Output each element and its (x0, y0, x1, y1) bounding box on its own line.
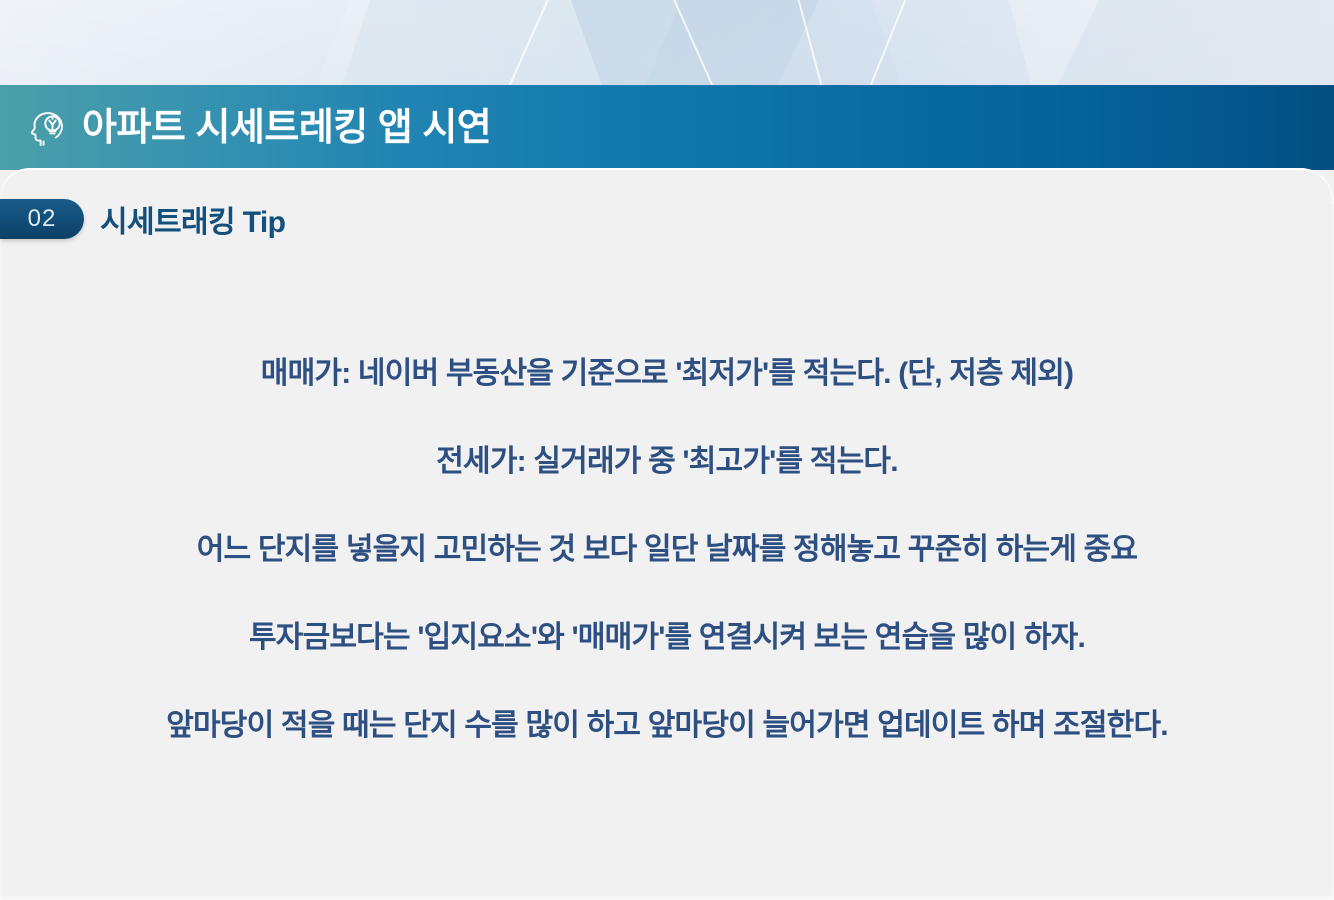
section-number-badge: 02 (0, 199, 84, 239)
body-line-5: 앞마당이 적을 때는 단지 수를 많이 하고 앞마당이 늘어가면 업데이트 하며… (0, 682, 1334, 770)
decorative-top-band (0, 0, 1334, 85)
head-lightbulb-idea-icon (26, 106, 70, 150)
section-title: 시세트래킹 Tip (100, 197, 285, 241)
body-line-4: 투자금보다는 '입지요소'와 '매매가'를 연결시켜 보는 연습을 많이 하자. (0, 594, 1334, 682)
body-line-2: 전세가: 실거래가 중 '최고가'를 적는다. (0, 418, 1334, 506)
body-line-1: 매매가: 네이버 부동산을 기준으로 '최저가'를 적는다. (단, 저층 제외… (0, 330, 1334, 418)
slide-header-bar: 아파트 시세트레킹 앱 시연 (0, 85, 1334, 170)
facet-shape-5 (1001, 0, 1334, 85)
slide-header-title: 아파트 시세트레킹 앱 시연 (82, 109, 491, 147)
slide-root: 아파트 시세트레킹 앱 시연 02 시세트래킹 Tip 매매가: 네이버 부동산… (0, 0, 1334, 900)
body-text-block: 매매가: 네이버 부동산을 기준으로 '최저가'를 적는다. (단, 저층 제외… (0, 330, 1334, 770)
section-heading: 02 시세트래킹 Tip (0, 197, 285, 241)
body-line-3: 어느 단지를 넣을지 고민하는 것 보다 일단 날짜를 정해놓고 꾸준히 하는게… (0, 506, 1334, 594)
